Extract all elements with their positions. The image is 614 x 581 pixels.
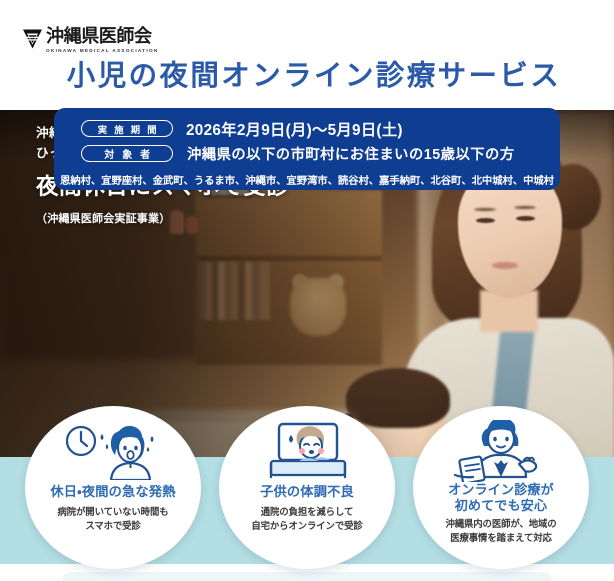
photo-mother-eye-left xyxy=(476,218,495,223)
period-row: 実 施 期 間 2026年2月9日(月)〜5月9日(土) xyxy=(54,117,560,140)
period-label-pill: 実 施 期 間 xyxy=(81,120,173,137)
period-value: 2026年2月9日(月)〜5月9日(土) xyxy=(186,118,403,140)
target-row: 対 象 者 沖縄県の以下の市町村にお住まいの15歳以下の方 xyxy=(54,141,560,166)
photo-mother-brow-right xyxy=(514,206,536,209)
photo-mother-eye-right xyxy=(516,216,535,221)
hero-note: （沖縄県医師会実証事業） xyxy=(36,210,289,226)
feature-description: 病院が開いていない時間も スマホで受診 xyxy=(40,505,186,533)
feature-title: 休日・夜間の急な発熱 xyxy=(50,484,175,500)
page-header: 沖縄県医師会 OKINAWA MEDICAL ASSOCIATION 小児の夜間… xyxy=(0,0,614,110)
feature-description: 沖縄県内の医師が、地域の 医療事情を踏まえて対応 xyxy=(428,517,574,545)
page-title: 小児の夜間オンライン診療サービス xyxy=(0,62,614,91)
doctor-with-clipboard-icon xyxy=(449,420,553,482)
feature-desc-line2: スマホで受診 xyxy=(85,520,140,531)
target-label-pill: 対 象 者 xyxy=(81,145,173,162)
feature-card-fever[interactable]: 休日・夜間の急な発熱 病院が開いていない時間も スマホで受診 xyxy=(25,406,201,569)
feature-title-line2: 初めてでも安心 xyxy=(455,498,547,513)
feature-title: 子供の体調不良 xyxy=(260,484,354,500)
city-list: 恩納村、宜野座村、金武町、うるま市、沖縄市、宜野湾市、読谷村、嘉手納町、北谷町、… xyxy=(54,172,560,187)
feature-title-line1: オンライン診療が xyxy=(448,482,554,497)
info-band: 実 施 期 間 2026年2月9日(月)〜5月9日(土) 対 象 者 沖縄県の以… xyxy=(54,108,560,190)
feature-desc-line1: 通院の負担を減らして xyxy=(261,506,353,517)
photo-mother-brow-left xyxy=(474,208,496,211)
logo-name-ja: 沖縄県医師会 xyxy=(46,27,156,46)
feature-desc-line2: 自宅からオンラインで受診 xyxy=(251,520,362,531)
target-value: 沖縄県の以下の市町村にお住まいの15歳以下の方 xyxy=(187,143,515,164)
feature-description: 通院の負担を減らして 自宅からオンラインで受診 xyxy=(234,505,380,533)
child-in-bed-icon xyxy=(257,420,357,482)
clock-and-feverish-person-icon xyxy=(61,420,165,482)
feature-desc-line2: 医療事情を踏まえて対応 xyxy=(450,532,552,543)
bottom-card-peek xyxy=(62,572,552,581)
okinawa-medical-association-mark-icon xyxy=(22,28,43,50)
logo-name-en: OKINAWA MEDICAL ASSOCIATION xyxy=(46,48,159,53)
feature-circles: 休日・夜間の急な発熱 病院が開いていない時間も スマホで受診 xyxy=(0,406,614,571)
feature-title: オンライン診療が 初めてでも安心 xyxy=(435,482,567,514)
feature-card-illness[interactable]: 子供の体調不良 通院の負担を減らして 自宅からオンラインで受診 xyxy=(219,406,395,569)
feature-card-online[interactable]: オンライン診療が 初めてでも安心 沖縄県内の医師が、地域の 医療事情を踏まえて対… xyxy=(413,406,589,569)
feature-desc-line1: 沖縄県内の医師が、地域の xyxy=(445,518,556,529)
promotional-banner-page: 沖縄県医師会 OKINAWA MEDICAL ASSOCIATION 小児の夜間… xyxy=(0,0,614,581)
feature-desc-line1: 病院が開いていない時間も xyxy=(57,506,168,517)
photo-mother-mouth xyxy=(492,262,518,269)
organization-logo[interactable]: 沖縄県医師会 OKINAWA MEDICAL ASSOCIATION xyxy=(22,27,156,53)
